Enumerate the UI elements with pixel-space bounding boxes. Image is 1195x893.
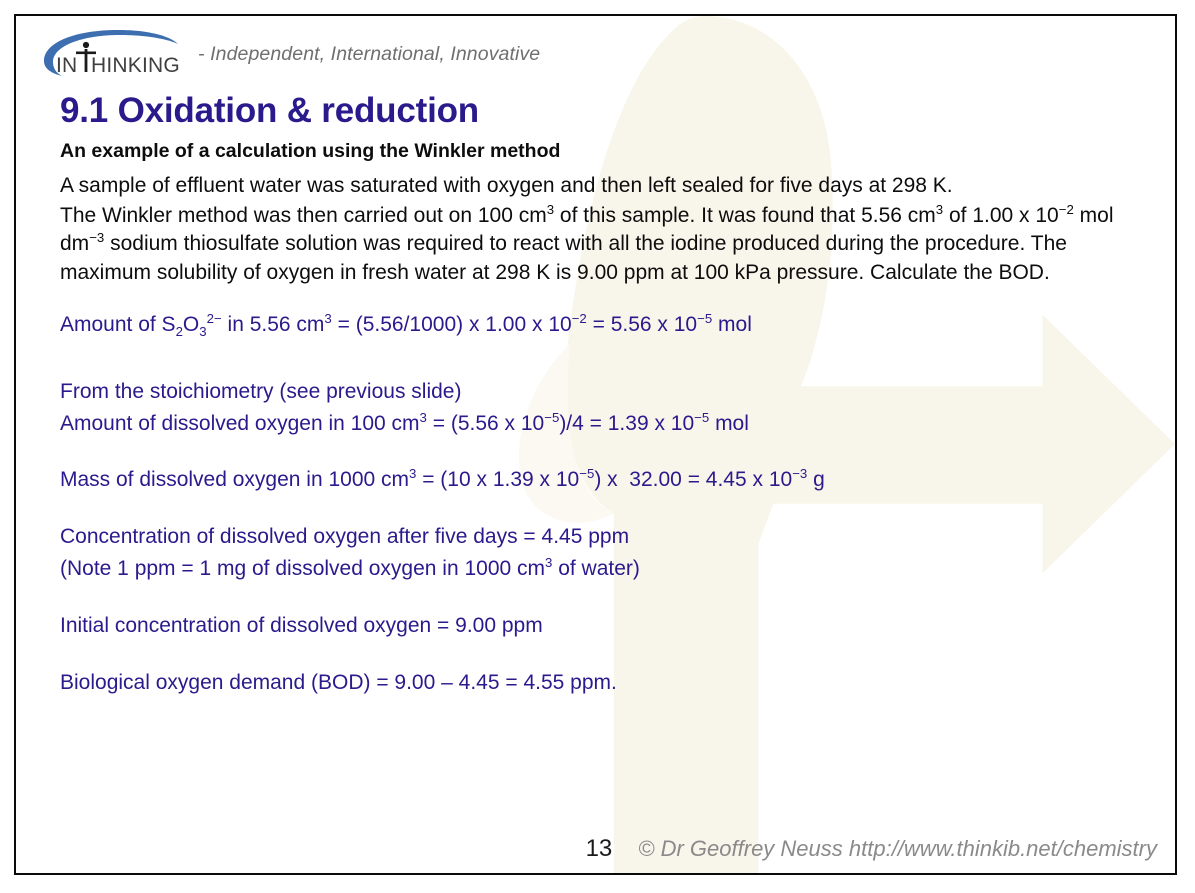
body-paragraph-2: The Winkler method was then carried out … bbox=[60, 202, 1151, 288]
calculation-line-6: (Note 1 ppm = 1 mg of dissolved oxygen i… bbox=[60, 554, 1151, 584]
calculation-line-3: Amount of dissolved oxygen in 100 cm3 = … bbox=[60, 409, 1151, 439]
calculation-line-5: Concentration of dissolved oxygen after … bbox=[60, 522, 1151, 552]
svg-text:IN: IN bbox=[56, 54, 77, 77]
calculation-line-4: Mass of dissolved oxygen in 1000 cm3 = (… bbox=[60, 465, 1151, 495]
brand-header: IN HINKING - Independent, International,… bbox=[36, 28, 540, 80]
brand-tagline: - Independent, International, Innovative bbox=[198, 43, 540, 66]
page-title: 9.1 Oxidation & reduction bbox=[60, 92, 1151, 131]
slide-content: 9.1 Oxidation & reduction An example of … bbox=[60, 92, 1151, 697]
slide-footer: 13 © Dr Geoffrey Neuss http://www.thinki… bbox=[16, 835, 1175, 863]
slide-frame: IN HINKING - Independent, International,… bbox=[14, 14, 1177, 875]
calculation-line-7: Initial concentration of dissolved oxyge… bbox=[60, 611, 1151, 641]
inthinking-logo: IN HINKING bbox=[36, 28, 184, 80]
svg-text:HINKING: HINKING bbox=[91, 54, 180, 77]
calculation-line-2: From the stoichiometry (see previous sli… bbox=[60, 377, 1151, 407]
calculation-line-1: Amount of S2O32− in 5.56 cm3 = (5.56/100… bbox=[60, 310, 1151, 340]
copyright-notice: © Dr Geoffrey Neuss http://www.thinkib.n… bbox=[638, 836, 1157, 862]
calculation-block: Amount of S2O32− in 5.56 cm3 = (5.56/100… bbox=[60, 310, 1151, 698]
body-paragraph-1: A sample of effluent water was saturated… bbox=[60, 172, 1151, 201]
page-number: 13 bbox=[586, 835, 613, 863]
slide-subtitle: An example of a calculation using the Wi… bbox=[60, 139, 1151, 163]
calculation-line-8: Biological oxygen demand (BOD) = 9.00 – … bbox=[60, 668, 1151, 698]
